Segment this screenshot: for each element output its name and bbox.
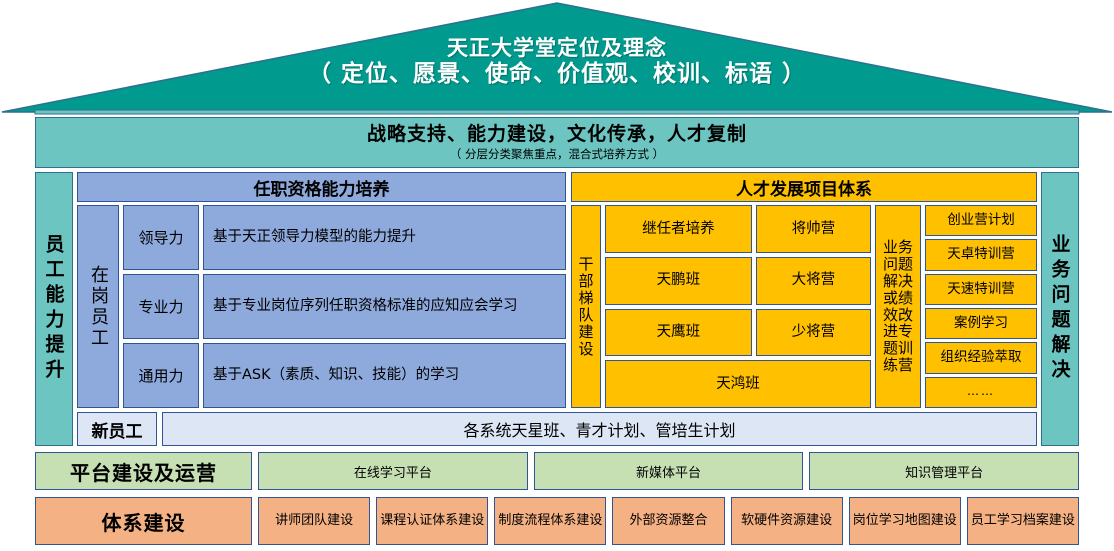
platform-item[interactable]: 在线学习平台 [258, 452, 528, 490]
right-pillar-business-problem-solving: 业务问题解决 [1041, 172, 1079, 446]
talent-program-item-ellipsis: …… [925, 377, 1037, 408]
qualification-row[interactable]: 专业力 基于专业岗位序列任职资格标准的应知应会学习 [123, 274, 566, 339]
talent-program-item[interactable]: 天卓特训营 [925, 239, 1037, 270]
qualification-desc: 基于ASK（素质、知识、技能）的学习 [203, 343, 566, 408]
system-item[interactable]: 课程认证体系建设 [376, 497, 488, 545]
roof-title-line1: 天正大学堂定位及理念 [0, 36, 1114, 61]
qualification-tag: 专业力 [123, 274, 199, 339]
cadre-program-line: 天鸿班 [605, 360, 871, 408]
talent-development-title: 人才发展项目体系 [571, 172, 1037, 202]
system-item[interactable]: 软硬件资源建设 [731, 497, 843, 545]
main-body: 员工能力提升 任职资格能力培养 在岗员工 领导力 基于天正领导力模型的能力提升 [35, 172, 1079, 446]
cadre-program-line: 继任者培养 将帅营 [605, 205, 871, 253]
talent-program-item[interactable]: 创业营计划 [925, 205, 1037, 236]
qualification-desc: 基于天正领导力模型的能力提升 [203, 205, 566, 270]
system-item[interactable]: 员工学习档案建设 [967, 497, 1079, 545]
qualification-rows: 领导力 基于天正领导力模型的能力提升 专业力 基于专业岗位序列任职资格标准的应知… [123, 205, 566, 408]
cadre-echelon-label: 干部梯队建设 [571, 205, 601, 408]
platform-row-title: 平台建设及运营 [35, 452, 252, 490]
platform-row: 平台建设及运营 在线学习平台 新媒体平台 知识管理平台 [35, 452, 1079, 490]
cadre-program-cell[interactable]: 继任者培养 [605, 205, 752, 253]
platform-item[interactable]: 新媒体平台 [534, 452, 804, 490]
roof-title-block: 天正大学堂定位及理念 （ 定位、愿景、使命、价值观、校训、标语 ） [0, 36, 1114, 89]
talent-program-item[interactable]: 组织经验萃取 [925, 342, 1037, 373]
strategy-banner-sub: （ 分层分类聚焦重点，混合式培养方式 ） [450, 148, 664, 161]
system-row-title: 体系建设 [35, 497, 252, 545]
strategy-banner-main: 战略支持、能力建设，文化传承，人才复制 [367, 124, 747, 145]
qualification-title: 任职资格能力培养 [77, 172, 566, 202]
center-column: 任职资格能力培养 在岗员工 领导力 基于天正领导力模型的能力提升 专业力 基于专… [77, 172, 1037, 446]
system-item[interactable]: 讲师团队建设 [258, 497, 370, 545]
platform-item[interactable]: 知识管理平台 [809, 452, 1079, 490]
cadre-program-grid: 继任者培养 将帅营 天鹏班 大将营 天鹰班 少将营 [605, 205, 871, 408]
cadre-program-cell[interactable]: 将帅营 [756, 205, 871, 253]
cadre-program-cell[interactable]: 少将营 [756, 309, 871, 357]
qualification-row[interactable]: 领导力 基于天正领导力模型的能力提升 [123, 205, 566, 270]
talent-program-list: 创业营计划 天卓特训营 天速特训营 案例学习 组织经验萃取 …… [925, 205, 1037, 408]
cadre-program-line: 天鹰班 少将营 [605, 309, 871, 357]
qualification-row[interactable]: 通用力 基于ASK（素质、知识、技能）的学习 [123, 343, 566, 408]
roof-section: 天正大学堂定位及理念 （ 定位、愿景、使命、价值观、校训、标语 ） [0, 0, 1114, 116]
new-employee-programs[interactable]: 各系统天星班、青才计划、管培生计划 [162, 412, 1037, 446]
qualification-body: 在岗员工 领导力 基于天正领导力模型的能力提升 专业力 基于专业岗位序列任职资格… [77, 205, 566, 408]
new-employee-row: 新员工 各系统天星班、青才计划、管培生计划 [77, 412, 1037, 446]
system-item[interactable]: 制度流程体系建设 [494, 497, 606, 545]
strategy-banner: 战略支持、能力建设，文化传承，人才复制 （ 分层分类聚焦重点，混合式培养方式 ） [35, 117, 1079, 168]
on-job-employee-label: 在岗员工 [77, 205, 119, 408]
business-problem-camp-label: 业务问题解决或绩效改进专题训练营 [875, 205, 921, 408]
cadre-program-cell[interactable]: 大将营 [756, 257, 871, 305]
talent-program-item[interactable]: 天速特训营 [925, 274, 1037, 305]
talent-development-panel: 人才发展项目体系 干部梯队建设 继任者培养 将帅营 天鹏班 大将营 [571, 172, 1037, 408]
cadre-program-cell[interactable]: 天鹏班 [605, 257, 752, 305]
architecture-diagram: 天正大学堂定位及理念 （ 定位、愿景、使命、价值观、校训、标语 ） 战略支持、能… [0, 0, 1114, 551]
qualification-desc: 基于专业岗位序列任职资格标准的应知应会学习 [203, 274, 566, 339]
center-top-panels: 任职资格能力培养 在岗员工 领导力 基于天正领导力模型的能力提升 专业力 基于专… [77, 172, 1037, 408]
talent-program-item[interactable]: 案例学习 [925, 308, 1037, 339]
qualification-panel: 任职资格能力培养 在岗员工 领导力 基于天正领导力模型的能力提升 专业力 基于专… [77, 172, 566, 408]
cadre-program-cell[interactable]: 天鹰班 [605, 309, 752, 357]
talent-development-body: 干部梯队建设 继任者培养 将帅营 天鹏班 大将营 天鹰班 [571, 205, 1037, 408]
left-pillar-employee-capability: 员工能力提升 [35, 172, 73, 446]
system-item[interactable]: 外部资源整合 [612, 497, 724, 545]
system-item[interactable]: 岗位学习地图建设 [849, 497, 961, 545]
cadre-program-line: 天鹏班 大将营 [605, 257, 871, 305]
cadre-program-cell-full[interactable]: 天鸿班 [605, 360, 871, 408]
new-employee-label: 新员工 [77, 412, 157, 446]
system-row: 体系建设 讲师团队建设 课程认证体系建设 制度流程体系建设 外部资源整合 软硬件… [35, 497, 1079, 545]
qualification-tag: 通用力 [123, 343, 199, 408]
roof-title-line2: （ 定位、愿景、使命、价值观、校训、标语 ） [0, 61, 1114, 89]
qualification-tag: 领导力 [123, 205, 199, 270]
